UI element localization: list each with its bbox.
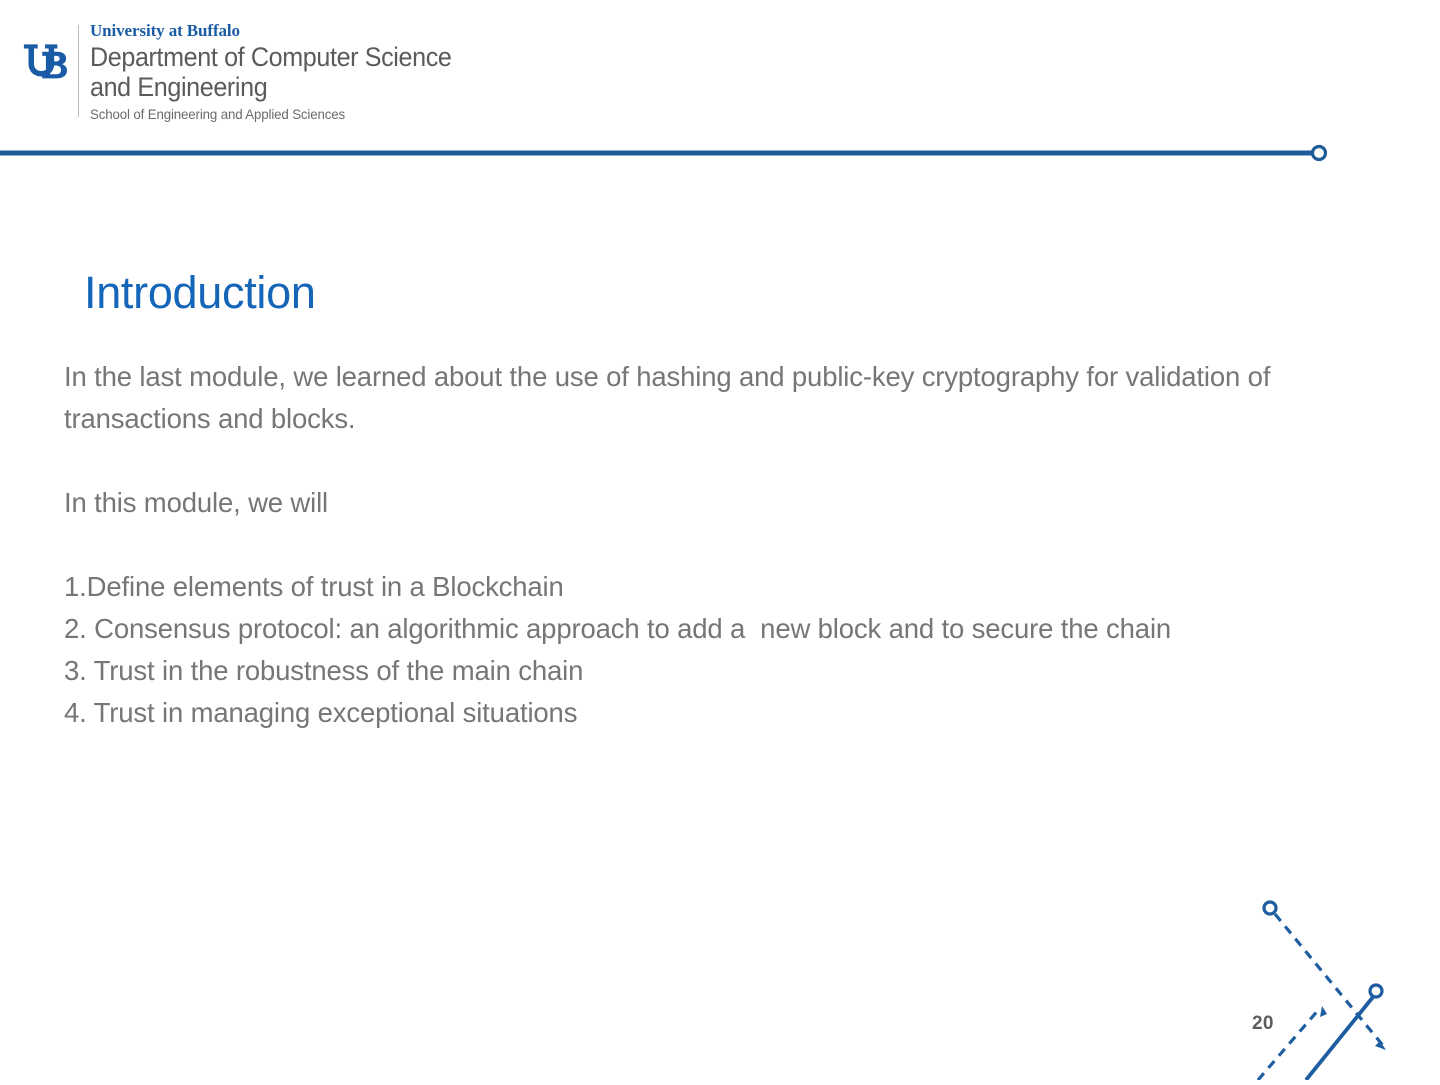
solid-line-with-circle-icon xyxy=(1306,997,1373,1080)
circle-endpoint-icon xyxy=(1370,985,1382,997)
brand-department-line-1: Department of Computer Science xyxy=(90,42,451,72)
circle-endpoint-icon xyxy=(1313,147,1326,160)
slide-body: In the last module, we learned about the… xyxy=(64,356,1334,734)
list-item: 1.Define elements of trust in a Blockcha… xyxy=(64,566,1334,608)
corner-arrows-decoration xyxy=(1240,880,1440,1080)
brand-text-block: University at Buffalo Department of Comp… xyxy=(90,22,479,121)
brand-department-line-2: and Engineering xyxy=(90,72,451,102)
brand-lockup: University at Buffalo Department of Comp… xyxy=(22,22,479,121)
ub-monogram-icon xyxy=(22,38,68,82)
brand-divider xyxy=(78,25,79,117)
paragraph-spacer-1 xyxy=(64,440,1334,482)
page-title: Introduction xyxy=(84,267,316,319)
header-rule xyxy=(0,143,1440,173)
arrowhead-down-right-icon xyxy=(1375,1041,1386,1050)
list-item: 2. Consensus protocol: an algorithmic ap… xyxy=(64,608,1334,650)
brand-university-label: University at Buffalo xyxy=(90,22,479,39)
list-item: 4. Trust in managing exceptional situati… xyxy=(64,692,1334,734)
brand-school-label: School of Engineering and Applied Scienc… xyxy=(90,107,459,121)
paragraph-spacer-2 xyxy=(64,524,1334,566)
list-item: 3. Trust in the robustness of the main c… xyxy=(64,650,1334,692)
page-number: 20 xyxy=(1252,1013,1274,1035)
dashed-arrow-down-right-icon xyxy=(1275,914,1385,1048)
arrowhead-up-right-icon xyxy=(1320,1006,1327,1017)
slide-canvas: University at Buffalo Department of Comp… xyxy=(0,0,1440,1080)
circle-endpoint-icon xyxy=(1264,902,1276,914)
intro-paragraph-2: In this module, we will xyxy=(64,482,1334,524)
intro-paragraph-1: In the last module, we learned about the… xyxy=(64,356,1334,440)
